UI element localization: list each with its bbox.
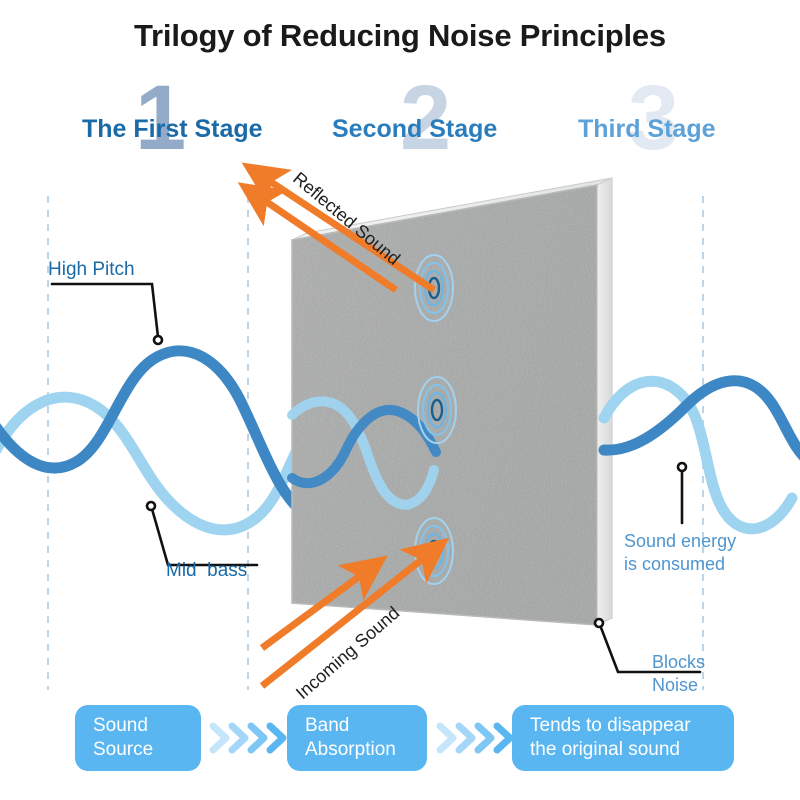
callout-high-pitch: High Pitch [48, 259, 135, 281]
flow-step-label: Sound Source [93, 714, 183, 763]
flow-connector-1 [213, 726, 283, 750]
stage-label-1: The First Stage [82, 115, 263, 144]
flow-step-band-absorption[interactable]: Band Absorption [287, 705, 427, 771]
leader-high-pitch [52, 284, 158, 337]
stage-label-3: Third Stage [578, 115, 716, 144]
flow-step-sound-source[interactable]: Sound Source [75, 705, 201, 771]
callout-mid-bass: Mid bass [166, 560, 247, 582]
callout-blocks-noise: Blocks Noise [652, 651, 705, 696]
infographic-canvas: Trilogy of Reducing Noise Principles 1 2… [0, 0, 800, 800]
callout-sound-energy: Sound energy is consumed [624, 530, 736, 575]
leader-mid-bass [152, 509, 257, 565]
stage-label-2: Second Stage [332, 115, 497, 144]
wave-light-transmitted [604, 381, 792, 529]
flow-connector-2 [440, 726, 510, 750]
page-title: Trilogy of Reducing Noise Principles [0, 18, 800, 54]
flow-step-label: Band Absorption [305, 714, 409, 763]
flow-step-label: Tends to disappear the original sound [530, 714, 716, 763]
flow-step-tends-to-disappear[interactable]: Tends to disappear the original sound [512, 705, 734, 771]
